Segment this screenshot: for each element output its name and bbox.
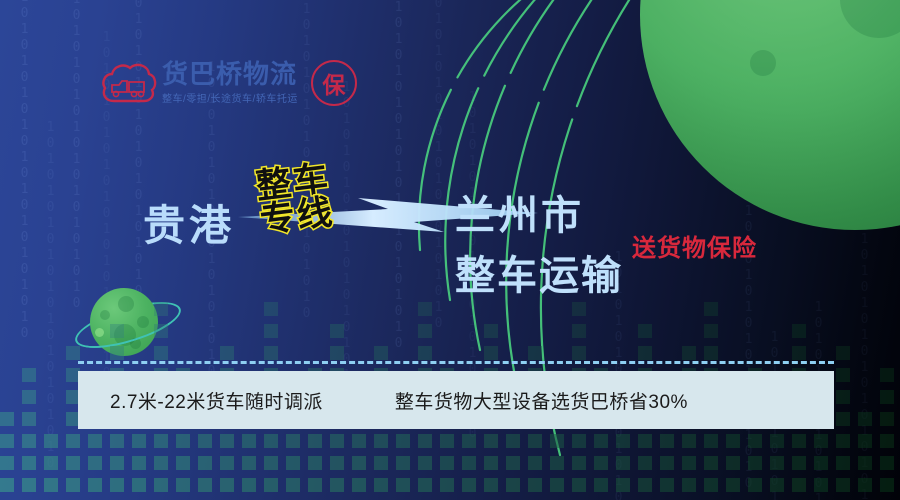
mosaic-block xyxy=(880,368,894,382)
mosaic-block xyxy=(220,346,234,360)
company-logo: 货巴桥物流 整车/零担/长途货车/轿车托运 保 xyxy=(100,60,357,106)
mosaic-block xyxy=(220,434,234,448)
mosaic-block xyxy=(506,478,520,492)
mosaic-block xyxy=(396,434,410,448)
mosaic-block xyxy=(66,478,80,492)
mosaic-block xyxy=(880,434,894,448)
logo-text-block: 货巴桥物流 整车/零担/长途货车/轿车托运 xyxy=(162,61,298,104)
mosaic-block xyxy=(176,478,190,492)
mosaic-block xyxy=(660,434,674,448)
mosaic-block xyxy=(616,434,630,448)
mosaic-block xyxy=(660,478,674,492)
mosaic-block xyxy=(264,456,278,470)
mosaic-block xyxy=(748,434,762,448)
mosaic-block xyxy=(242,434,256,448)
route-type-badge: 整车 专线 xyxy=(254,162,336,238)
insurance-badge-icon: 保 xyxy=(311,60,357,106)
mosaic-block xyxy=(880,390,894,404)
mosaic-block xyxy=(836,368,850,382)
mosaic-block xyxy=(638,324,652,338)
mosaic-block xyxy=(638,478,652,492)
mosaic-block xyxy=(352,434,366,448)
mosaic-block xyxy=(330,346,344,360)
destination-block: 兰州市 整车运输 xyxy=(455,186,623,306)
mosaic-block xyxy=(528,434,542,448)
mosaic-block xyxy=(242,478,256,492)
mosaic-block xyxy=(462,478,476,492)
mosaic-block xyxy=(396,478,410,492)
mosaic-block xyxy=(528,456,542,470)
green-planet-large-shading xyxy=(640,0,900,230)
mosaic-block xyxy=(418,434,432,448)
mosaic-block xyxy=(220,478,234,492)
banner-item-savings: 整车货物大型设备选货巴桥省30% xyxy=(395,387,688,414)
mosaic-block xyxy=(286,478,300,492)
banner-item-fleet: 2.7米-22米货车随时调派 xyxy=(110,387,323,414)
binary-column: 1010101010101010101010 xyxy=(18,0,31,200)
destination-service: 整车运输 xyxy=(455,246,623,306)
mosaic-block xyxy=(858,412,872,426)
mosaic-block xyxy=(880,478,894,492)
mosaic-block xyxy=(682,478,696,492)
mosaic-block xyxy=(550,478,564,492)
mosaic-block xyxy=(418,346,432,360)
mosaic-block xyxy=(0,412,14,426)
mosaic-block xyxy=(176,456,190,470)
mosaic-block xyxy=(616,456,630,470)
mosaic-block xyxy=(110,434,124,448)
mosaic-block xyxy=(264,346,278,360)
mosaic-block xyxy=(132,456,146,470)
mosaic-block xyxy=(418,478,432,492)
mosaic-block xyxy=(704,346,718,360)
mosaic-block xyxy=(154,434,168,448)
mosaic-block xyxy=(682,456,696,470)
mosaic-block xyxy=(264,302,278,316)
green-planet-small-ringed xyxy=(75,283,185,368)
mosaic-block xyxy=(594,456,608,470)
binary-column: 1010101010101010101010 xyxy=(100,30,113,210)
mosaic-block xyxy=(198,478,212,492)
mosaic-block xyxy=(726,478,740,492)
mosaic-block xyxy=(440,434,454,448)
binary-column: 1010101010101010101010 xyxy=(858,200,871,440)
mosaic-block xyxy=(0,456,14,470)
mosaic-block xyxy=(110,456,124,470)
binary-column: 1010101010101010101010 xyxy=(70,0,83,290)
binary-column: 1010101010101010101010 xyxy=(432,0,445,160)
mosaic-block xyxy=(440,478,454,492)
mosaic-block xyxy=(748,478,762,492)
mosaic-block xyxy=(374,434,388,448)
route-badge-line-2: 专线 xyxy=(258,195,336,237)
banner-dashed-divider xyxy=(78,361,834,364)
mosaic-block xyxy=(308,478,322,492)
mosaic-block xyxy=(418,324,432,338)
mosaic-block xyxy=(858,478,872,492)
mosaic-block xyxy=(550,456,564,470)
mosaic-block xyxy=(330,324,344,338)
mosaic-block xyxy=(770,478,784,492)
binary-column: 1010101010101010101010 xyxy=(392,0,405,300)
mosaic-block xyxy=(638,346,652,360)
mosaic-block xyxy=(660,456,674,470)
mosaic-block xyxy=(22,412,36,426)
mosaic-block xyxy=(44,456,58,470)
mosaic-block xyxy=(132,478,146,492)
mosaic-block xyxy=(374,478,388,492)
mosaic-block xyxy=(880,412,894,426)
mosaic-block xyxy=(242,456,256,470)
mosaic-block xyxy=(264,324,278,338)
bottom-banner: 2.7米-22米货车随时调派 整车货物大型设备选货巴桥省30% xyxy=(78,371,834,429)
mosaic-block xyxy=(22,434,36,448)
mosaic-block xyxy=(704,456,718,470)
poster-canvas: 1010101010101010101010 10101010101010101… xyxy=(0,0,900,500)
mosaic-block xyxy=(616,478,630,492)
mosaic-block xyxy=(418,302,432,316)
binary-column: 1010101010101010101010 xyxy=(44,120,57,360)
mosaic-block xyxy=(440,456,454,470)
mosaic-block xyxy=(264,478,278,492)
mosaic-block xyxy=(792,478,806,492)
mosaic-block xyxy=(572,478,586,492)
mosaic-block xyxy=(0,434,14,448)
mosaic-block xyxy=(484,324,498,338)
mosaic-block xyxy=(814,456,828,470)
mosaic-block xyxy=(286,456,300,470)
mosaic-block xyxy=(308,456,322,470)
mosaic-block xyxy=(814,478,828,492)
mosaic-block xyxy=(330,478,344,492)
mosaic-block xyxy=(176,434,190,448)
mosaic-block xyxy=(418,456,432,470)
mosaic-block xyxy=(638,456,652,470)
mosaic-block xyxy=(352,456,366,470)
mosaic-block xyxy=(506,456,520,470)
mosaic-block xyxy=(572,434,586,448)
mosaic-block xyxy=(22,368,36,382)
mosaic-block xyxy=(792,324,806,338)
mosaic-block xyxy=(110,478,124,492)
mosaic-block xyxy=(264,434,278,448)
mosaic-block xyxy=(0,478,14,492)
mosaic-block xyxy=(88,456,102,470)
mosaic-block xyxy=(858,434,872,448)
mosaic-block xyxy=(22,390,36,404)
mosaic-block xyxy=(594,478,608,492)
mosaic-block xyxy=(836,346,850,360)
mosaic-block xyxy=(704,302,718,316)
mosaic-block xyxy=(484,456,498,470)
mosaic-block xyxy=(572,324,586,338)
mosaic-block xyxy=(836,456,850,470)
mosaic-block xyxy=(550,434,564,448)
mosaic-block xyxy=(286,434,300,448)
mosaic-block xyxy=(132,434,146,448)
mosaic-block xyxy=(682,434,696,448)
mosaic-block xyxy=(704,478,718,492)
mosaic-block xyxy=(330,456,344,470)
mosaic-block xyxy=(88,478,102,492)
mosaic-block xyxy=(704,434,718,448)
mosaic-block xyxy=(682,346,696,360)
mosaic-block xyxy=(22,456,36,470)
mosaic-block xyxy=(22,478,36,492)
mosaic-block xyxy=(462,456,476,470)
mosaic-block xyxy=(374,346,388,360)
mosaic-block xyxy=(792,434,806,448)
logo-company-name: 货巴桥物流 xyxy=(162,61,298,88)
mosaic-block xyxy=(66,456,80,470)
mosaic-block xyxy=(484,478,498,492)
mosaic-block xyxy=(792,346,806,360)
mosaic-block xyxy=(836,478,850,492)
mosaic-block xyxy=(638,434,652,448)
mosaic-block xyxy=(88,434,102,448)
mosaic-block xyxy=(726,456,740,470)
mosaic-block xyxy=(836,412,850,426)
mosaic-block xyxy=(572,456,586,470)
insurance-note: 送货物保险 xyxy=(632,228,757,263)
mosaic-block xyxy=(154,456,168,470)
mosaic-block xyxy=(154,478,168,492)
mosaic-block xyxy=(528,478,542,492)
mosaic-block xyxy=(528,346,542,360)
mosaic-block xyxy=(198,456,212,470)
mosaic-block xyxy=(594,434,608,448)
mosaic-block xyxy=(44,434,58,448)
destination-city: 兰州市 xyxy=(455,186,623,246)
mosaic-block xyxy=(198,434,212,448)
mosaic-block xyxy=(374,456,388,470)
mosaic-block xyxy=(880,456,894,470)
origin-city: 贵港 xyxy=(143,192,235,253)
mosaic-block xyxy=(44,478,58,492)
mosaic-block xyxy=(792,456,806,470)
mosaic-block xyxy=(572,346,586,360)
mosaic-block xyxy=(308,434,322,448)
mosaic-block xyxy=(66,434,80,448)
mosaic-block xyxy=(726,434,740,448)
mosaic-block xyxy=(506,434,520,448)
mosaic-block xyxy=(462,434,476,448)
mosaic-block xyxy=(770,434,784,448)
mosaic-block xyxy=(748,456,762,470)
mosaic-block xyxy=(836,390,850,404)
mosaic-block xyxy=(836,434,850,448)
mosaic-block xyxy=(396,456,410,470)
mosaic-block xyxy=(704,324,718,338)
mosaic-block xyxy=(770,456,784,470)
mosaic-block xyxy=(352,478,366,492)
cloud-truck-logo-icon xyxy=(100,61,158,105)
mosaic-block xyxy=(220,456,234,470)
mosaic-block xyxy=(858,456,872,470)
mosaic-block xyxy=(814,434,828,448)
mosaic-block xyxy=(484,346,498,360)
logo-subtitle: 整车/零担/长途货车/轿车托运 xyxy=(162,90,298,105)
mosaic-block xyxy=(330,434,344,448)
mosaic-block xyxy=(484,434,498,448)
